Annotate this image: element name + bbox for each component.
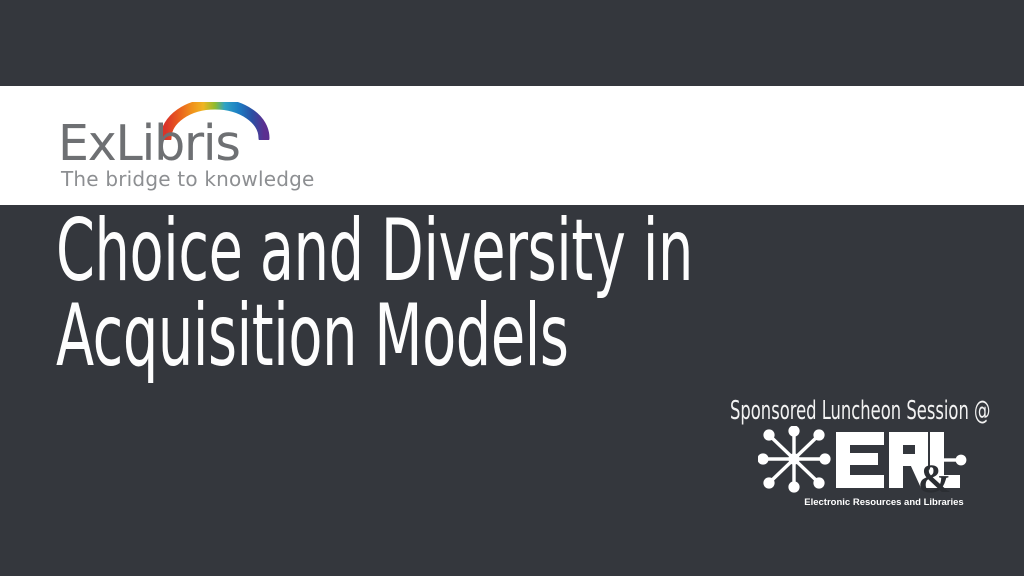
erl-letter-E [836,432,884,488]
sponsor-block: Sponsored Luncheon Session @ [730,398,970,424]
erl-ampersand: & [918,456,951,501]
sponsor-caption: Sponsored Luncheon Session @ [730,398,898,424]
exlibris-wordmark: ExLibris [58,119,240,168]
brand-band: ExLibris The bridge to knowledge [0,86,1024,205]
network-starburst-icon [758,426,831,493]
slide-title: Choice and Diversity in Acquisition Mode… [56,209,816,379]
exlibris-logo: ExLibris The bridge to knowledge [58,106,288,198]
erl-logo: & Electronic Resources and Libraries [758,426,970,508]
presentation-slide: ExLibris The bridge to knowledge Choice … [0,0,1024,576]
title-line-2: Acquisition Models [56,294,603,379]
exlibris-tagline: The bridge to knowledge [61,169,315,189]
erl-tagline: Electronic Resources and Libraries [804,497,963,508]
title-line-1: Choice and Diversity in [56,209,603,294]
